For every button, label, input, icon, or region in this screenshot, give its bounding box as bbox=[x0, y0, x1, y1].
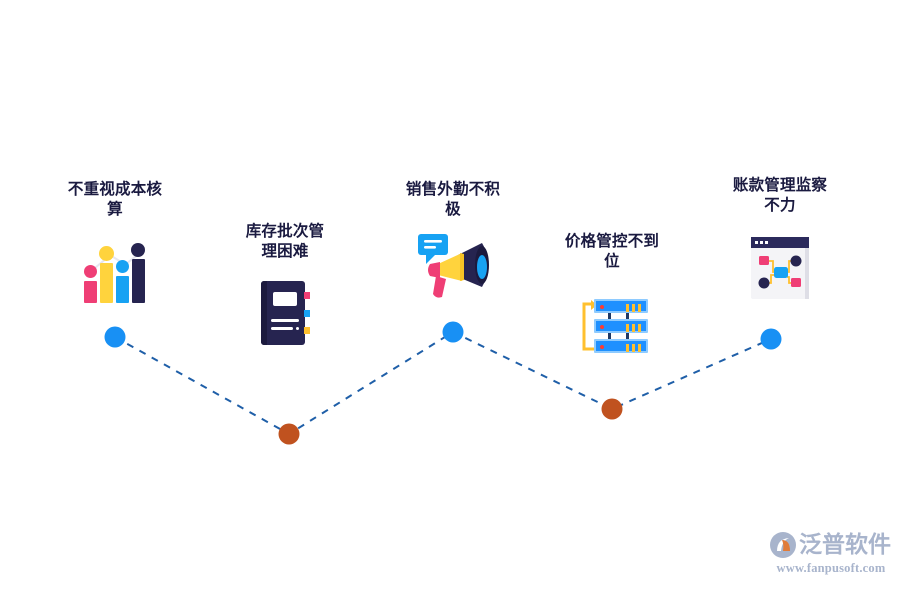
node-cost-accounting[interactable]: 不重视成本核 算 bbox=[35, 180, 195, 303]
node-label-inventory-batch: 库存批次管 理困难 bbox=[205, 222, 365, 263]
node-label-price-control: 价格管控不到 位 bbox=[532, 232, 692, 273]
node-sales-fieldwork[interactable]: 销售外勤不积 极 bbox=[373, 180, 533, 303]
fanpu-logo-icon bbox=[770, 532, 796, 558]
node-label-cost-accounting: 不重视成本核 算 bbox=[35, 180, 195, 221]
notebook-icon bbox=[205, 273, 365, 345]
node-price-control[interactable]: 价格管控不到 位 bbox=[532, 232, 692, 355]
marker-dot-sales-fieldwork[interactable] bbox=[443, 322, 464, 343]
marker-dot-inventory-batch[interactable] bbox=[279, 424, 300, 445]
marker-dot-cost-accounting[interactable] bbox=[105, 327, 126, 348]
node-receivables-supervision[interactable]: 账款管理监察 不力 bbox=[700, 176, 860, 299]
marker-dot-receivables-supervision[interactable] bbox=[761, 329, 782, 350]
node-label-receivables-supervision: 账款管理监察 不力 bbox=[700, 176, 860, 217]
server-stack-icon bbox=[532, 283, 692, 355]
watermark-logo: 泛普软件 www.fanpusoft.com bbox=[770, 532, 892, 588]
node-inventory-batch[interactable]: 库存批次管 理困难 bbox=[205, 222, 365, 345]
watermark-url: www.fanpusoft.com bbox=[770, 561, 892, 576]
marker-dot-price-control[interactable] bbox=[602, 399, 623, 420]
megaphone-icon bbox=[373, 231, 533, 303]
flow-window-icon bbox=[700, 227, 860, 299]
bar-chart-icon bbox=[35, 231, 195, 303]
infographic-canvas: 不重视成本核 算 库存批次管 理困难 销售外勤不积 极 bbox=[0, 0, 900, 600]
node-label-sales-fieldwork: 销售外勤不积 极 bbox=[373, 180, 533, 221]
watermark-brand: 泛普软件 bbox=[799, 534, 891, 557]
